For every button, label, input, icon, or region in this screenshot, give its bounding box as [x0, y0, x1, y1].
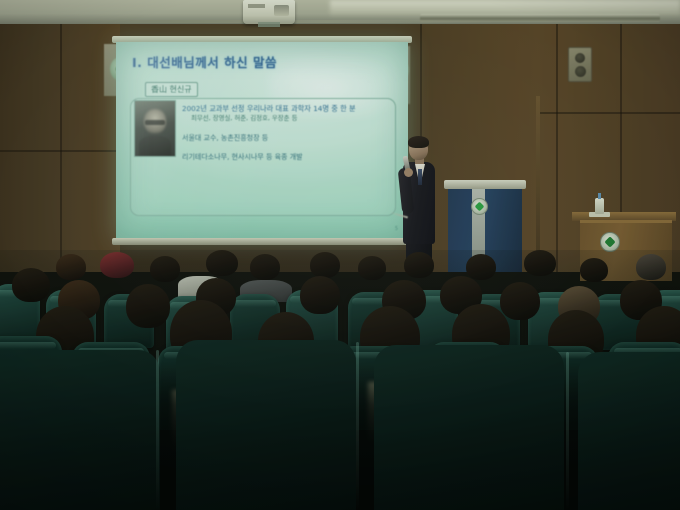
presenter-hair: [408, 136, 429, 148]
wall-seam: [556, 24, 558, 272]
foreground-seat: [176, 340, 356, 510]
audience-member: [466, 254, 496, 280]
audience-member: [580, 258, 608, 282]
foreground-seat-edge: [356, 342, 359, 510]
foreground-seat: [0, 350, 160, 510]
audience-member: [358, 256, 386, 280]
foreground-seat-edge: [566, 352, 569, 510]
foreground-seat-edge: [156, 350, 159, 510]
audience-area: [0, 250, 680, 510]
audience-member: [206, 250, 238, 276]
wall-seam: [0, 150, 120, 152]
projector-lens-icon: [274, 5, 289, 16]
wall-speaker-icon: [568, 47, 592, 82]
water-bottle: [595, 198, 604, 214]
portrait-glasses-icon: [145, 120, 165, 125]
door-edge: [536, 96, 540, 272]
audience-member: [500, 282, 540, 320]
podium-emblem-icon: [471, 198, 488, 215]
presenter: [398, 138, 444, 268]
slide-bullet-three: 리기테다소나무, 현사시나무 등 육종 개발: [182, 152, 388, 162]
speaker-driver: [575, 66, 586, 77]
presenter-tie: [418, 169, 422, 185]
audience-member: [100, 252, 134, 278]
slide-portrait-photo: [134, 100, 176, 157]
presentation-slide: Ⅰ. 대선배님께서 하신 말씀 香山 현신규 2002년 교과부 선정 우리나라…: [116, 42, 408, 240]
audience-member: [126, 284, 170, 328]
slide-bullet-sub: 최무선, 장영실, 허준, 김정호, 우장춘 등: [191, 114, 388, 124]
wall-seam: [60, 24, 62, 272]
audience-member: [56, 254, 86, 280]
projection-screen: Ⅰ. 대선배님께서 하신 말씀 香山 현신규 2002년 교과부 선정 우리나라…: [116, 42, 408, 240]
audience-member: [636, 254, 666, 280]
slide-bullet-main: 2002년 교과부 선정 우리나라 대표 과학자 14명 중 한 분: [182, 104, 388, 114]
slide-bullet-list: 2002년 교과부 선정 우리나라 대표 과학자 14명 중 한 분 최무선, …: [182, 104, 388, 162]
portrait-body: [139, 136, 171, 156]
presenter-hand: [404, 168, 413, 177]
audience-member: [250, 254, 280, 280]
audience-member: [524, 250, 556, 276]
audience-member: [300, 276, 340, 314]
ceiling-projector: [243, 0, 295, 24]
audience-member: [404, 252, 434, 278]
screen-bottom-bar: [112, 238, 412, 245]
lectern-emblem-icon: [600, 232, 620, 252]
podium-top-surface: [444, 180, 526, 189]
lecture-hall-photo: Ⅰ. 대선배님께서 하신 말씀 香山 현신규 2002년 교과부 선정 우리나라…: [0, 0, 680, 510]
slide-name-box: 香山 현신규: [145, 82, 198, 97]
speaker-driver: [575, 53, 585, 63]
projector-label: [248, 4, 265, 8]
foreground-seat: [374, 345, 564, 510]
slide-title: Ⅰ. 대선배님께서 하신 말씀: [132, 52, 277, 71]
slide-bullet-two: 서울대 교수, 농촌진흥청장 등: [182, 133, 388, 143]
audience-member: [150, 256, 180, 282]
projector-mount: [258, 22, 280, 27]
audience-member: [12, 268, 50, 302]
foreground-seat: [578, 352, 680, 510]
audience-member: [310, 252, 340, 278]
wall-seam: [540, 112, 680, 114]
